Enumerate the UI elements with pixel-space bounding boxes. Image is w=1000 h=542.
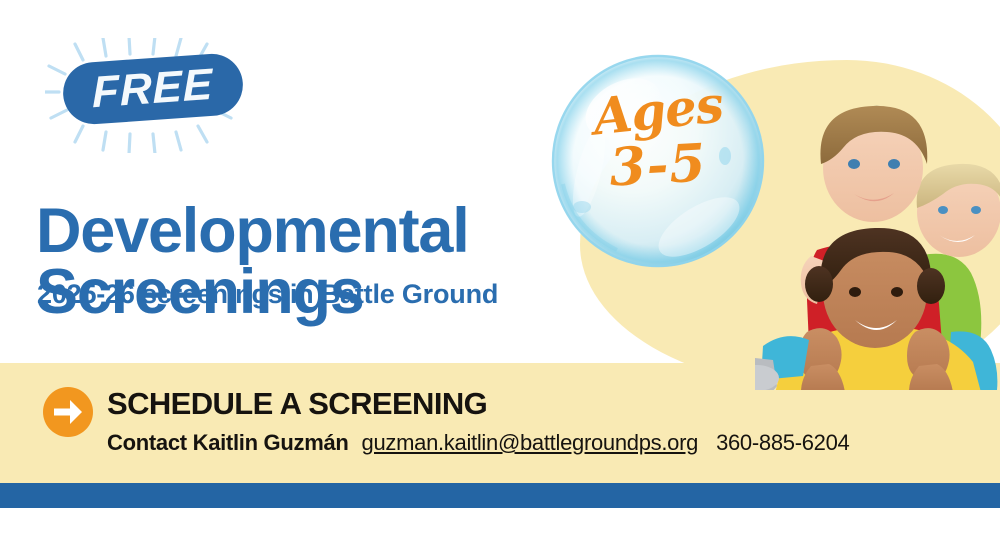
soap-bubble-icon <box>549 52 767 270</box>
free-badge-label: FREE <box>92 63 214 116</box>
footer-white-strip <box>0 508 1000 542</box>
footer-blue-bar <box>0 483 1000 508</box>
free-badge-pill: FREE <box>61 52 245 126</box>
arrow-right-icon[interactable] <box>43 387 93 437</box>
flyer-poster: FREE Developmental Screenings 2025-26 sc… <box>0 0 1000 542</box>
page-subtitle: 2025-26 screenings in Battle Ground <box>37 279 498 310</box>
headline-line-1: Developmental <box>36 196 469 266</box>
cta-heading: SCHEDULE A SCREENING <box>107 386 487 422</box>
cta-contact-line: Contact Kaitlin Guzmán guzman.kaitlin@ba… <box>107 430 849 456</box>
ages-bubble: Ages 3-5 <box>549 52 767 270</box>
contact-email-link[interactable]: guzman.kaitlin@battlegroundps.org <box>362 430 699 456</box>
contact-label: Contact Kaitlin Guzmán <box>107 430 349 456</box>
free-badge: FREE <box>45 38 295 153</box>
page-title: Developmental Screenings <box>36 140 469 384</box>
three-children-photo <box>755 60 1000 390</box>
contact-phone: 360-885-6204 <box>716 430 849 456</box>
